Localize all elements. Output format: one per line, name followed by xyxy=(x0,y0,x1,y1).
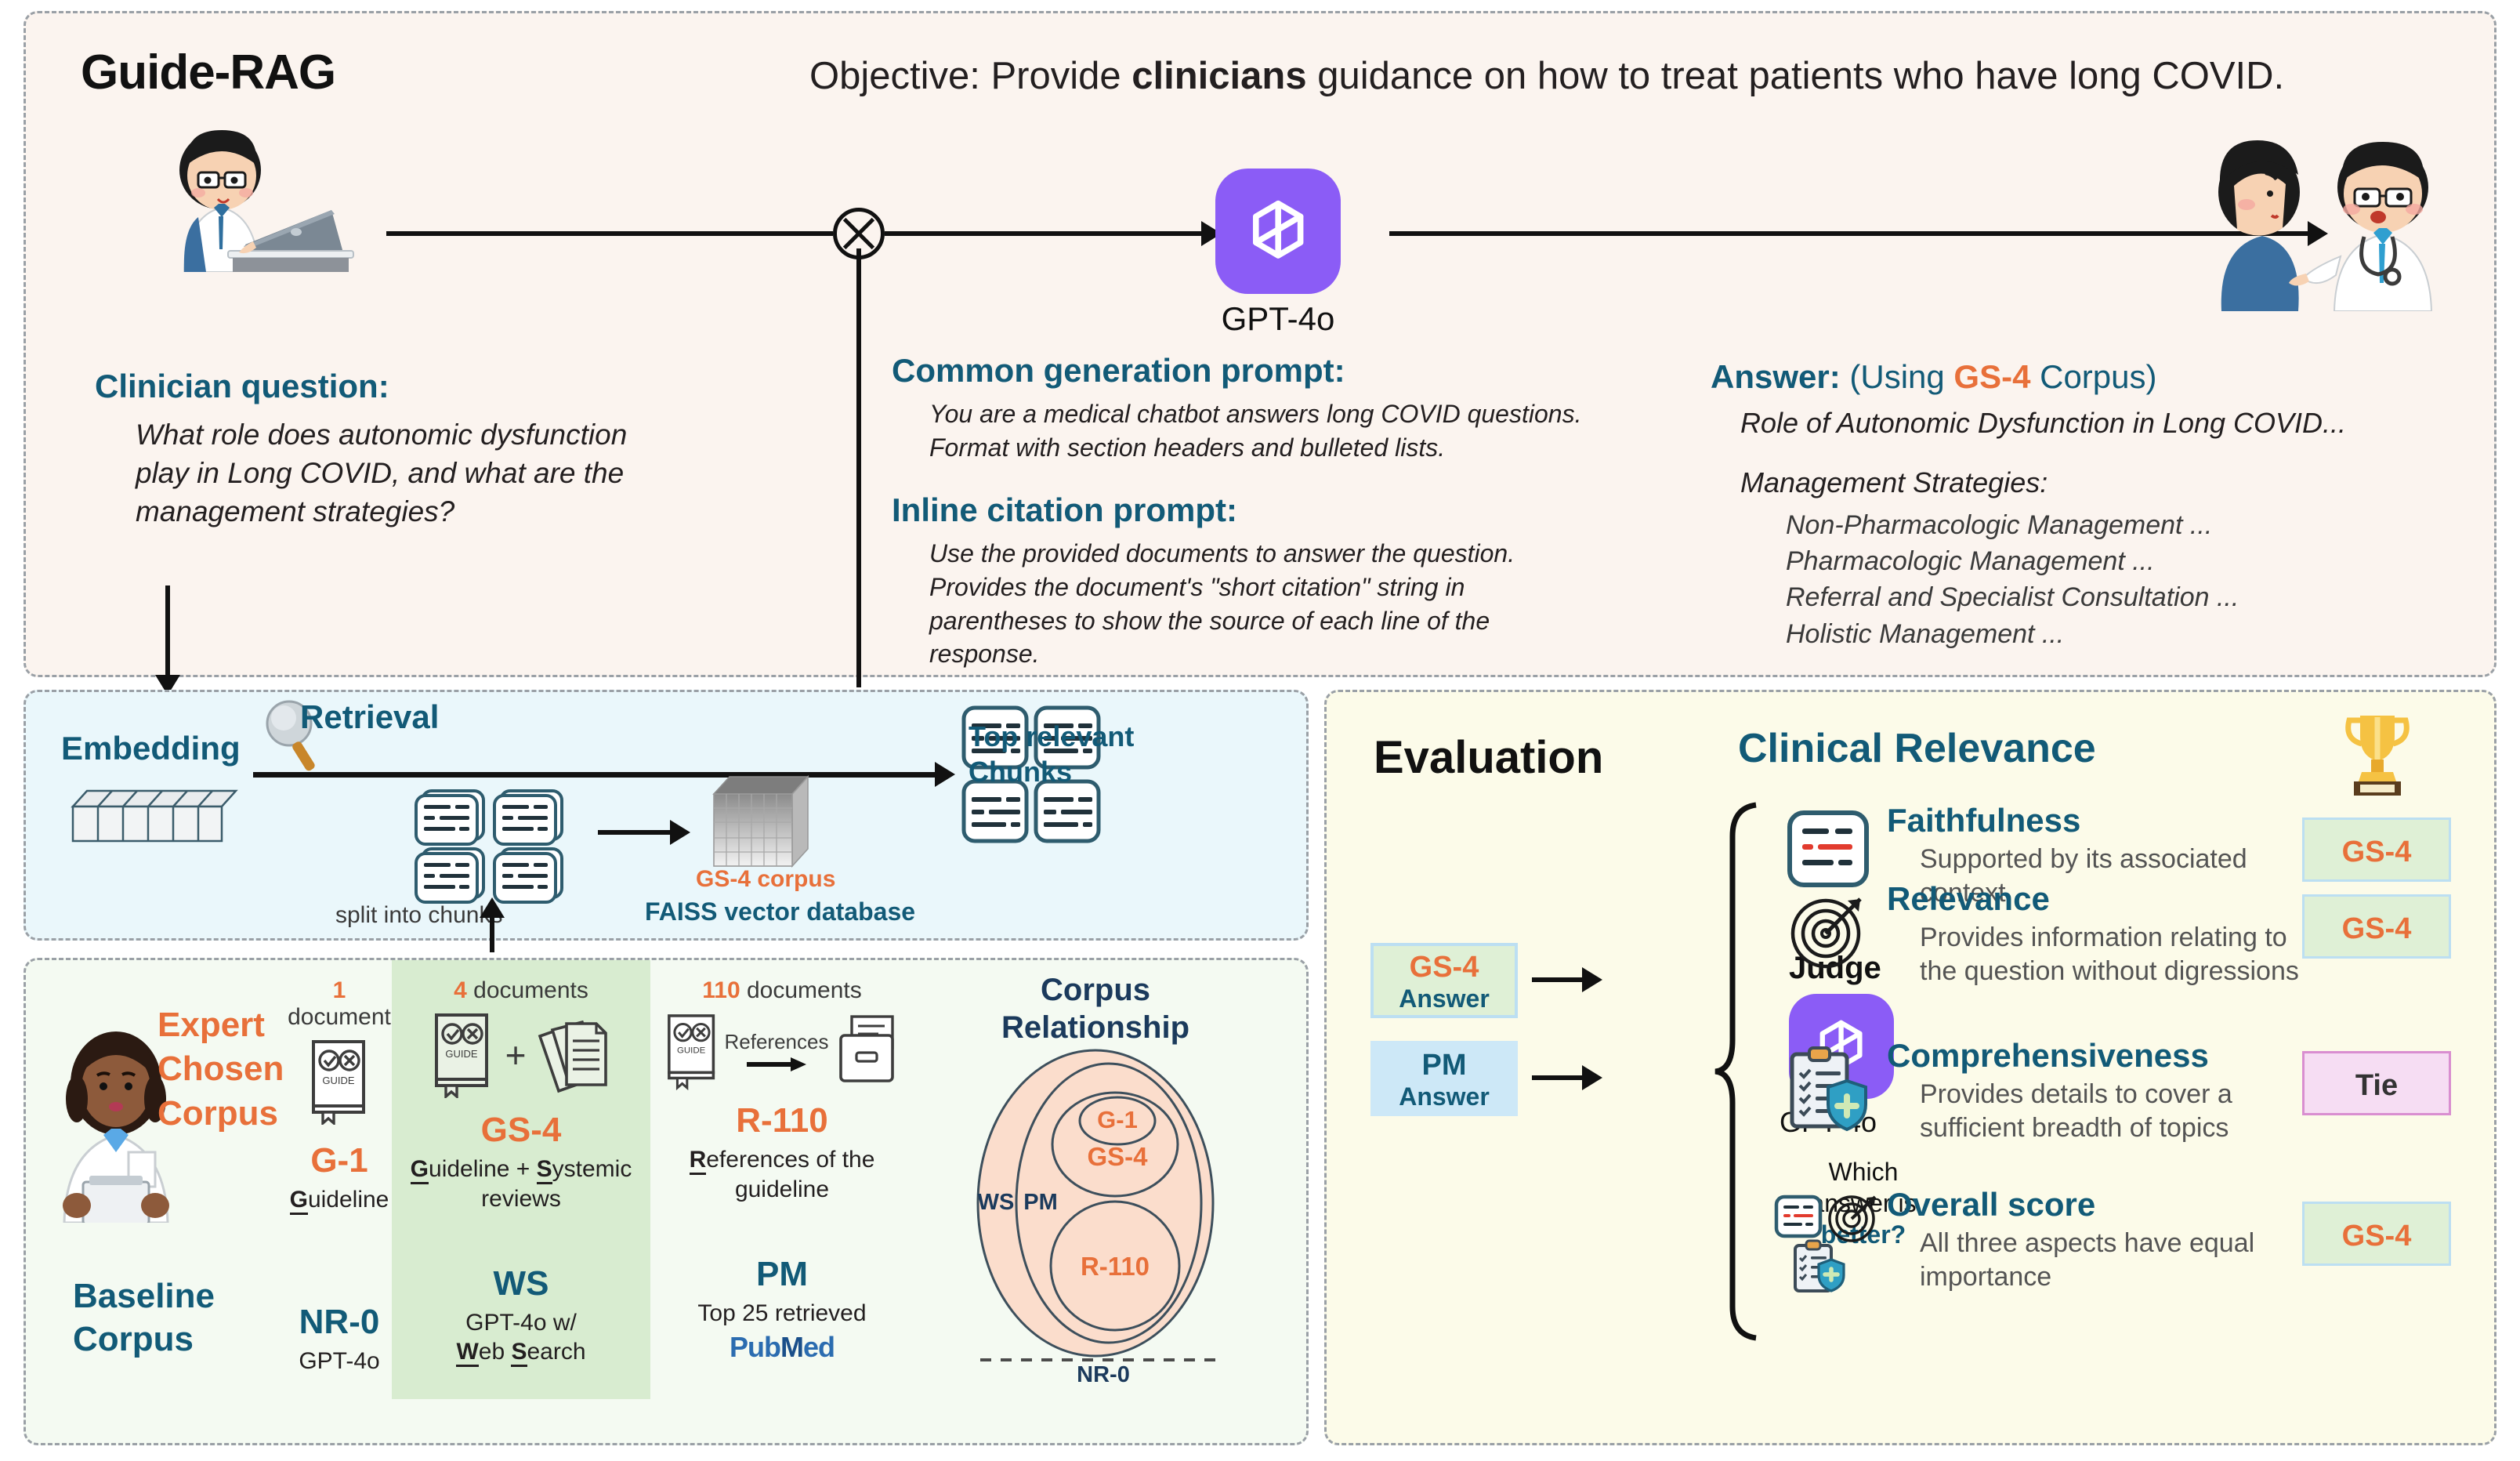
verdict-overall-score: GS-4 xyxy=(2302,1202,2451,1266)
gs4-doc-count: 4 documents xyxy=(407,977,635,1004)
arrow-right-icon xyxy=(745,1056,808,1073)
criterion-relevance: Relevance Provides information relating … xyxy=(1887,880,2373,988)
g1-code: G-1 xyxy=(284,1141,394,1180)
r110-count-number: 110 xyxy=(702,977,740,1003)
trophy-icon xyxy=(2341,708,2413,799)
criteria-brace-icon xyxy=(1712,800,1770,1343)
reference-folder-icon xyxy=(831,1012,902,1090)
page-title: Guide-RAG xyxy=(81,45,335,100)
line-chunks-to-merge xyxy=(856,248,861,687)
arrowhead-to-database xyxy=(670,820,690,845)
arrowhead-to-top-chunks xyxy=(935,762,955,787)
answer-label: Answer: xyxy=(1711,358,1841,395)
answer-title: Role of Autonomic Dysfunction in Long CO… xyxy=(1740,407,2510,440)
prompt-line: Use the provided documents to answer the… xyxy=(929,537,1683,571)
top-relevant-chunks-label: Top relevant Chunks xyxy=(969,719,1134,789)
document-lines-icon xyxy=(1785,808,1871,890)
arrow-pm-to-judge xyxy=(1532,1075,1585,1080)
vector-database-icon xyxy=(706,770,816,871)
answer-block: Answer: (Using GS-4 Corpus) Role of Auto… xyxy=(1711,358,2510,652)
ws-code: WS xyxy=(407,1264,635,1303)
g1-description: Guideline xyxy=(284,1185,394,1215)
criterion-title: Comprehensiveness xyxy=(1887,1037,2373,1075)
g1-desc-initial: G xyxy=(290,1187,308,1215)
gs4-desc-rest-2: ystemic xyxy=(552,1156,632,1182)
plus-icon: + xyxy=(505,1034,527,1076)
venn-label-pm: PM xyxy=(1023,1190,1058,1215)
prompt-line: response. xyxy=(929,637,1683,671)
clipboard-shield-icon xyxy=(1780,1043,1874,1137)
g1-count-number: 1 xyxy=(333,977,346,1003)
gs4-desc-initial-1: G xyxy=(411,1156,429,1184)
verdict-relevance: GS-4 xyxy=(2302,894,2451,959)
evaluation-title: Evaluation xyxy=(1374,731,1603,784)
venn-label-r110: R-110 xyxy=(1081,1252,1150,1281)
clinician-at-laptop-illustration xyxy=(136,127,363,272)
prompt-line: You are a medical chatbot answers long C… xyxy=(929,397,1683,431)
gs4-icon-row: GUIDE + xyxy=(407,1012,635,1098)
pm-description: Top 25 retrieved xyxy=(653,1299,911,1329)
pipeline-panel: Guide-RAG Objective: Provide clinicians … xyxy=(24,11,2496,677)
which-line-1: Which xyxy=(1789,1156,1938,1187)
arrow-embedding-to-chunks xyxy=(253,772,943,778)
evaluation-panel: Evaluation Clinical Relevance GS-4 Answe… xyxy=(1324,690,2496,1445)
pm-answer-box: PM Answer xyxy=(1370,1041,1518,1116)
baseline-corpus-label: Baseline Corpus xyxy=(73,1275,269,1361)
r110-count-word: documents xyxy=(747,977,862,1003)
objective-pre: Objective: Provide xyxy=(809,55,1131,97)
pubmed-logo: PubMed xyxy=(653,1331,911,1364)
g1-desc-rest: uideline xyxy=(308,1187,389,1213)
clinical-relevance-title: Clinical Relevance xyxy=(1738,725,2096,772)
embedding-label: Embedding xyxy=(61,730,241,767)
r110-desc-rest: eferences of the xyxy=(706,1147,874,1173)
gs4-desc-rest-1: uideline + xyxy=(429,1156,537,1182)
doctor-patient-illustration xyxy=(2173,139,2486,311)
prompt-line: Provides the document's "short citation"… xyxy=(929,571,1683,604)
target-icon xyxy=(1785,886,1871,973)
svg-text:GUIDE: GUIDE xyxy=(322,1075,355,1086)
ws-desc-line-1: GPT-4o w/ xyxy=(407,1308,635,1338)
objective-statement: Objective: Provide clinicians guidance o… xyxy=(809,54,2284,98)
r110-doc-count: 110 documents xyxy=(653,977,911,1004)
criterion-title: Faithfulness xyxy=(1887,802,2373,839)
gpt4o-logo-icon xyxy=(1215,169,1341,294)
baseline-line-1: Baseline xyxy=(73,1275,269,1318)
systemic-reviews-papers-icon xyxy=(535,1016,614,1094)
criterion-overall-score: Overall score All three aspects have equ… xyxy=(1887,1186,2373,1294)
pm-code: PM xyxy=(653,1255,911,1294)
top-chunks-line-2: Chunks xyxy=(969,754,1134,789)
gs4-answer-sub: Answer xyxy=(1374,984,1515,1013)
corpus-relationship-venn: G-1 GS-4 R-110 WS PM NR-0 xyxy=(958,1046,1233,1383)
pm-answer-sub: Answer xyxy=(1374,1082,1515,1111)
clinician-question-text: What role does autonomic dysfunction pla… xyxy=(136,416,831,531)
answer-item: Holistic Management ... xyxy=(1786,616,2510,652)
corpus-rel-line-2: Relationship xyxy=(966,1009,1225,1046)
gs4-answer-box: GS-4 Answer xyxy=(1370,943,1518,1018)
prompt-line: parentheses to show the source of each l… xyxy=(929,604,1683,638)
arrow-gs4-to-judge xyxy=(1532,977,1585,982)
chunk-stack-icon xyxy=(410,786,574,904)
venn-label-ws: WS xyxy=(978,1190,1015,1215)
arrowhead-gs4-to-judge xyxy=(1582,967,1602,992)
answer-section-heading: Management Strategies: xyxy=(1740,466,2510,499)
r110-description: References of the guideline xyxy=(653,1145,911,1205)
pm-answer-code: PM xyxy=(1374,1049,1515,1082)
criterion-desc-line-2: sufficient breadth of topics xyxy=(1920,1111,2373,1145)
question-line: What role does autonomic dysfunction xyxy=(136,416,831,455)
combined-icon xyxy=(1773,1192,1883,1294)
openai-glyph-icon xyxy=(1232,185,1324,277)
criterion-comprehensiveness: Comprehensiveness Provides details to co… xyxy=(1887,1037,2373,1145)
criterion-desc-line-2: the question without digressions xyxy=(1920,955,2373,988)
gpt4o-label: GPT-4o xyxy=(1215,300,1341,338)
arrow-merge-to-model xyxy=(885,231,1206,236)
clinician-question-block: Clinician question: What role does auton… xyxy=(95,368,831,531)
objective-post: guidance on how to treat patients who ha… xyxy=(1307,55,2285,97)
prompt-line: Format with section headers and bulleted… xyxy=(929,431,1683,465)
answer-item: Pharmacologic Management ... xyxy=(1786,543,2510,579)
retrieval-label: Retrieval xyxy=(300,698,439,736)
arrow-question-to-merge xyxy=(386,231,833,236)
top-chunks-line-1: Top relevant xyxy=(969,719,1134,754)
r110-desc-initial: R xyxy=(690,1147,707,1175)
question-line: play in Long COVID, and what are the xyxy=(136,455,831,493)
baseline-line-2: Corpus xyxy=(73,1318,269,1361)
answer-item: Non-Pharmacologic Management ... xyxy=(1786,507,2510,543)
verdict-faithfulness: GS-4 xyxy=(2302,818,2451,882)
gs4-count-number: 4 xyxy=(454,977,467,1003)
answer-using-post: Corpus) xyxy=(2030,358,2156,395)
corpus-relationship-title: Corpus Relationship xyxy=(966,971,1225,1046)
r110-icon-row: GUIDE References xyxy=(653,1012,911,1090)
faiss-db-label: FAISS vector database xyxy=(645,897,915,926)
inline-citation-body: Use the provided documents to answer the… xyxy=(929,537,1683,672)
venn-label-gs4: GS-4 xyxy=(1087,1142,1148,1171)
corpus-rel-line-1: Corpus xyxy=(966,971,1225,1009)
clinician-question-heading: Clinician question: xyxy=(95,368,831,405)
arrow-chunks-to-database xyxy=(598,830,672,835)
corpus-panel: Expert Chosen Corpus Baseline Corpus 1 d… xyxy=(24,958,1309,1445)
corpus-column-g1: 1 document GUIDE G-1 Guideline NR-0 GPT-… xyxy=(284,977,394,1376)
svg-text:GUIDE: GUIDE xyxy=(676,1046,705,1056)
criterion-title: Relevance xyxy=(1887,880,2373,918)
gs4-desc-line-2: reviews xyxy=(407,1184,635,1214)
answer-item-list: Non-Pharmacologic Management ... Pharmac… xyxy=(1711,507,2510,652)
gs4-answer-code: GS-4 xyxy=(1374,951,1515,984)
verdict-comprehensiveness: Tie xyxy=(2302,1051,2451,1115)
common-prompt-heading: Common generation prompt: xyxy=(892,352,1683,390)
answer-item: Referral and Specialist Consultation ... xyxy=(1786,579,2510,615)
r110-code: R-110 xyxy=(653,1101,911,1140)
g1-count-word: document xyxy=(288,1004,391,1030)
objective-bold: clinicians xyxy=(1131,55,1306,97)
arrowhead-to-chunks xyxy=(480,897,505,918)
gs4-description: Guideline + Systemic reviews xyxy=(407,1155,635,1214)
nr0-description: GPT-4o xyxy=(284,1347,394,1376)
retrieval-panel: Embedding Retrieval xyxy=(24,690,1309,941)
corpus-column-r110: 110 documents GUIDE References xyxy=(653,977,911,1364)
svg-text:GUIDE: GUIDE xyxy=(445,1048,478,1060)
gs4-code: GS-4 xyxy=(407,1111,635,1150)
criterion-title: Overall score xyxy=(1887,1186,2373,1224)
r110-desc-line-2: guideline xyxy=(653,1175,911,1205)
gs4-desc-initial-2: S xyxy=(537,1156,552,1184)
guideline-book-icon: GUIDE xyxy=(429,1012,496,1098)
ws-desc-line-2: Web Search xyxy=(407,1337,635,1367)
ws-description: GPT-4o w/ Web Search xyxy=(407,1308,635,1368)
embedding-vector-icon xyxy=(59,786,239,849)
venn-label-nr0: NR-0 xyxy=(1077,1362,1130,1383)
answer-using-pre: (Using xyxy=(1849,358,1953,395)
question-line: management strategies? xyxy=(136,493,831,531)
split-into-chunks-label: split into chunks xyxy=(335,902,502,929)
references-arrow-group: References xyxy=(725,1030,829,1073)
prompt-block: Common generation prompt: You are a medi… xyxy=(892,352,1683,671)
venn-label-g1: G-1 xyxy=(1097,1106,1138,1133)
common-prompt-body: You are a medical chatbot answers long C… xyxy=(929,397,1683,465)
inline-citation-heading: Inline citation prompt: xyxy=(892,491,1683,529)
answer-heading: Answer: (Using GS-4 Corpus) xyxy=(1711,358,2510,396)
nr0-code: NR-0 xyxy=(284,1303,394,1342)
answer-corpus-code: GS-4 xyxy=(1953,358,2030,395)
guideline-book-icon: GUIDE xyxy=(306,1039,373,1125)
g1-doc-count: 1 document xyxy=(284,977,394,1031)
references-label: References xyxy=(725,1030,829,1054)
arrow-question-to-embedding xyxy=(165,585,170,678)
corpus-column-gs4: 4 documents GUIDE + xyxy=(407,977,635,1367)
guideline-book-icon: GUIDE xyxy=(662,1012,722,1090)
arrowhead-pm-to-judge xyxy=(1582,1065,1602,1090)
gs4-count-word: documents xyxy=(473,977,588,1003)
gs4-corpus-label: GS-4 corpus xyxy=(696,866,835,893)
